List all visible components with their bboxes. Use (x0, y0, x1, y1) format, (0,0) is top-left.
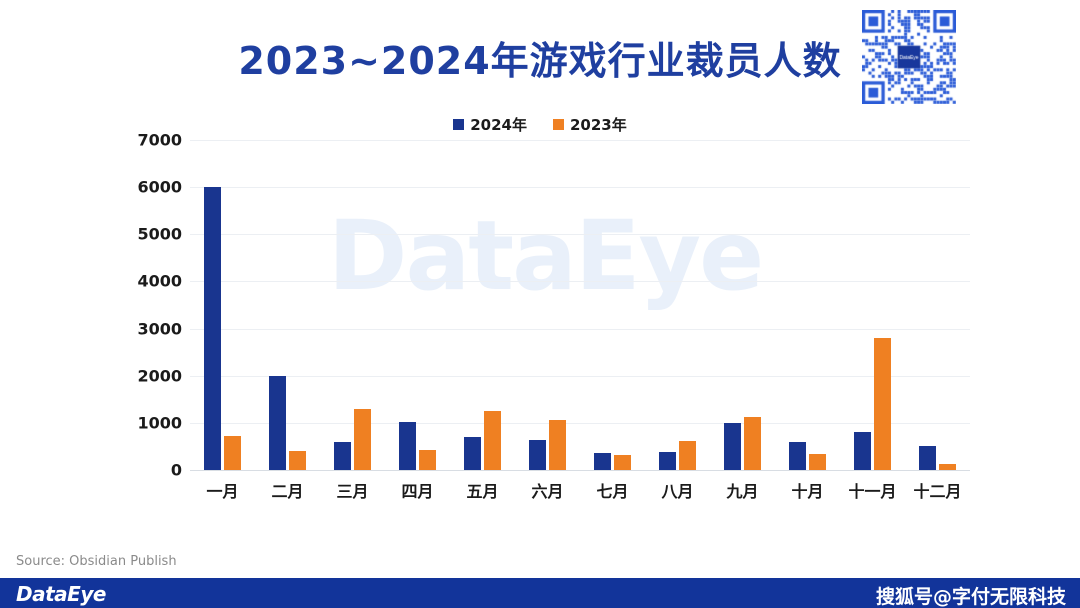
y-axis-tick-label: 6000 (137, 178, 182, 197)
bar-2024年-四月[interactable] (399, 422, 416, 470)
bar-group (905, 140, 970, 470)
bar-group (450, 140, 515, 470)
bar-2024年-一月[interactable] (204, 187, 221, 470)
bar-2023年-三月[interactable] (354, 409, 371, 470)
bar-2024年-六月[interactable] (529, 440, 546, 470)
legend-label-2023: 2023年 (570, 114, 627, 135)
plot-canvas (190, 140, 970, 470)
x-axis-tick-label: 一月 (190, 478, 255, 502)
y-axis-tick-label: 4000 (137, 272, 182, 291)
bar-group (580, 140, 645, 470)
legend-item-2023[interactable]: 2023年 (553, 114, 627, 135)
x-axis-tick-label: 五月 (450, 478, 515, 502)
bar-group (515, 140, 580, 470)
bar-2023年-十月[interactable] (809, 454, 826, 470)
bar-2024年-七月[interactable] (594, 453, 611, 470)
bar-group (385, 140, 450, 470)
chart-plot-area: DataEye 01000200030004000500060007000 一月… (120, 140, 970, 500)
bar-group (320, 140, 385, 470)
bar-2024年-八月[interactable] (659, 452, 676, 470)
source-note: Source: Obsidian Publish (16, 554, 177, 569)
bar-2024年-三月[interactable] (334, 442, 351, 470)
bar-2023年-十二月[interactable] (939, 464, 956, 470)
bar-group (255, 140, 320, 470)
bar-group (190, 140, 255, 470)
legend-swatch-2024 (453, 119, 464, 130)
bar-2023年-六月[interactable] (549, 420, 566, 470)
bar-2024年-十二月[interactable] (919, 446, 936, 470)
qr-code[interactable] (862, 10, 956, 104)
bar-2023年-五月[interactable] (484, 411, 501, 470)
x-axis-tick-label: 二月 (255, 478, 320, 502)
bar-group (775, 140, 840, 470)
x-axis: 一月二月三月四月五月六月七月八月九月十月十一月十二月 (190, 478, 970, 502)
x-axis-tick-label: 十二月 (905, 478, 970, 502)
x-axis-tick-label: 十月 (775, 478, 840, 502)
bar-2023年-八月[interactable] (679, 441, 696, 470)
x-axis-tick-label: 十一月 (840, 478, 905, 502)
bar-2024年-二月[interactable] (269, 376, 286, 470)
bar-2023年-七月[interactable] (614, 455, 631, 470)
y-axis-tick-label: 5000 (137, 225, 182, 244)
bar-2024年-五月[interactable] (464, 437, 481, 470)
chart-page: 2023~2024年游戏行业裁员人数 2024年 2023年 DataEye 0… (0, 0, 1080, 608)
bar-2023年-二月[interactable] (289, 451, 306, 470)
x-axis-tick-label: 六月 (515, 478, 580, 502)
bar-group (840, 140, 905, 470)
x-axis-line (190, 470, 970, 471)
y-axis: 01000200030004000500060007000 (120, 140, 182, 470)
x-axis-tick-label: 八月 (645, 478, 710, 502)
bar-2023年-四月[interactable] (419, 450, 436, 470)
bar-2023年-十一月[interactable] (874, 338, 891, 470)
y-axis-tick-label: 7000 (137, 131, 182, 150)
bar-group (645, 140, 710, 470)
x-axis-tick-label: 九月 (710, 478, 775, 502)
legend-item-2024[interactable]: 2024年 (453, 114, 527, 135)
y-axis-tick-label: 2000 (137, 366, 182, 385)
x-axis-tick-label: 三月 (320, 478, 385, 502)
bar-2023年-一月[interactable] (224, 436, 241, 470)
bar-group (710, 140, 775, 470)
legend-swatch-2023 (553, 119, 564, 130)
y-axis-tick-label: 0 (171, 461, 182, 480)
x-axis-tick-label: 七月 (580, 478, 645, 502)
footer-handle: 搜狐号@字付无限科技 (876, 582, 1066, 608)
qr-code-canvas (862, 10, 956, 104)
y-axis-tick-label: 3000 (137, 319, 182, 338)
bar-2024年-十一月[interactable] (854, 432, 871, 470)
bar-2024年-十月[interactable] (789, 442, 806, 470)
y-axis-tick-label: 1000 (137, 413, 182, 432)
x-axis-tick-label: 四月 (385, 478, 450, 502)
bar-2024年-九月[interactable] (724, 423, 741, 470)
footer-logo: DataEye (16, 582, 106, 606)
bar-series-container (190, 140, 970, 470)
bar-2023年-九月[interactable] (744, 417, 761, 470)
footer-bar: DataEye 搜狐号@字付无限科技 (0, 578, 1080, 608)
legend-label-2024: 2024年 (470, 114, 527, 135)
